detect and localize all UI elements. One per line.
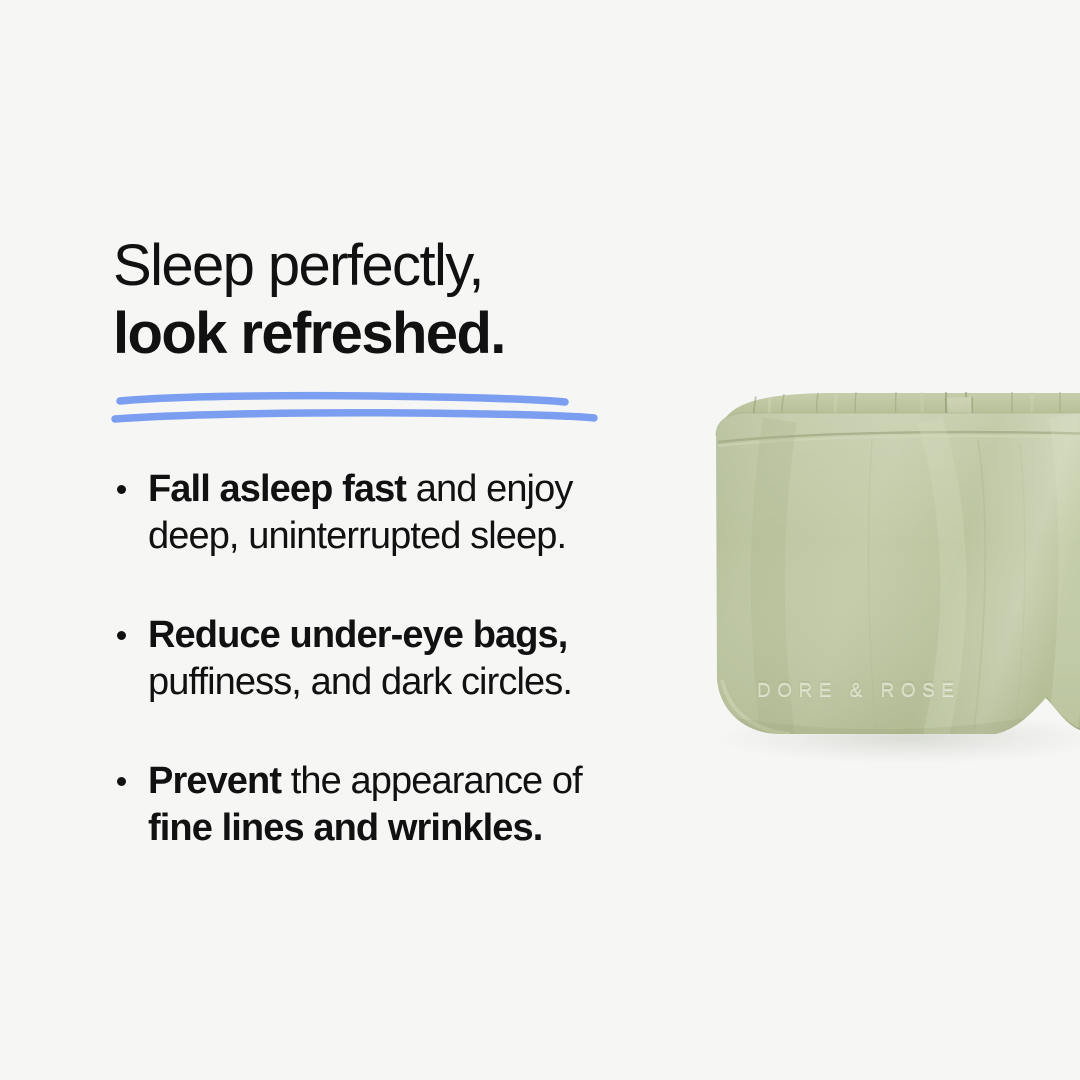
bullet-dot-icon	[117, 631, 126, 640]
bullet-bold-lead: Prevent	[148, 760, 281, 802]
bullet-rest: the appearance of	[281, 760, 582, 802]
bullet-rest: and enjoy	[406, 468, 572, 510]
bullet-line-2: deep, uninterrupted sleep.	[148, 515, 566, 557]
copy-block: Sleep perfectly, look refreshed. Fall as…	[113, 232, 693, 852]
headline-line-1: Sleep perfectly,	[113, 232, 693, 300]
product-feature-card: Sleep perfectly, look refreshed. Fall as…	[0, 0, 1080, 1080]
sleep-mask-illustration	[660, 380, 1080, 800]
bullet-dot-icon	[117, 777, 126, 786]
mask-body	[716, 413, 1080, 736]
bullet-bold-lead: Fall asleep fast	[148, 468, 406, 510]
headline-underline-accent	[113, 390, 613, 438]
double-underline-icon	[113, 390, 613, 438]
list-item: Reduce under-eye bags, puffiness, and da…	[113, 612, 693, 706]
bullet-bold-lead: Reduce under-eye bags,	[148, 614, 567, 656]
page-title: Sleep perfectly, look refreshed.	[113, 232, 693, 368]
bullet-dot-icon	[117, 485, 126, 494]
bullet-line-2: puffiness, and dark circles.	[148, 661, 572, 703]
list-item: Prevent the appearance of fine lines and…	[113, 758, 693, 852]
benefits-list: Fall asleep fast and enjoy deep, uninter…	[113, 466, 693, 853]
list-item: Fall asleep fast and enjoy deep, uninter…	[113, 466, 693, 560]
product-image-sleep-mask: DORE & ROSE	[660, 380, 1080, 800]
bullet-line-2-bold: fine lines and wrinkles.	[148, 807, 542, 849]
headline-line-2: look refreshed.	[113, 300, 693, 368]
